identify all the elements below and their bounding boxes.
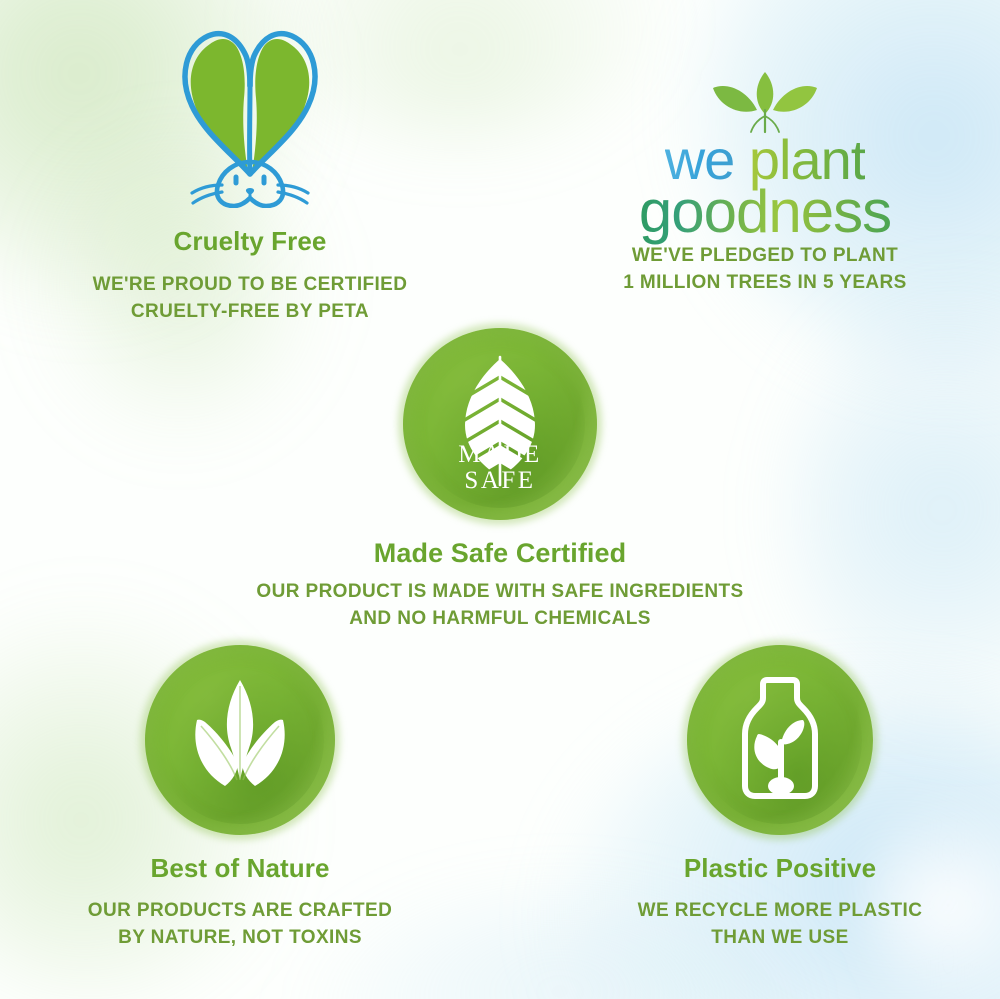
- badge-title: Best of Nature: [20, 853, 460, 884]
- sprout-icon: [705, 70, 825, 134]
- sprout-icon-holder: [639, 70, 891, 132]
- badge-description: OUR PRODUCTS ARE CRAFTED BY NATURE, NOT …: [20, 898, 460, 952]
- badge-cruelty-free: Cruelty Free WE'RE PROUD TO BE CERTIFIED…: [20, 22, 480, 326]
- we-plant-goodness-logo: we plant goodness: [535, 70, 995, 225]
- wordmark-line-2: goodness: [639, 182, 891, 242]
- badge-description-line: THAN WE USE: [570, 925, 990, 952]
- badge-title: Cruelty Free: [20, 226, 480, 257]
- badge-description-line: WE'RE PROUD TO BE CERTIFIED: [20, 272, 480, 299]
- badge-description-line: BY NATURE, NOT TOXINS: [20, 925, 460, 952]
- badge-made-safe: MADE SAFE Made Safe Certified OUR PRODUC…: [180, 328, 820, 633]
- badge-description-line: WE'VE PLEDGED TO PLANT: [535, 243, 995, 270]
- made-safe-label-line-2: SAFE: [464, 468, 535, 494]
- plastic-positive-seal: [687, 645, 873, 835]
- badge-title: Plastic Positive: [570, 853, 990, 884]
- badge-description: WE'VE PLEDGED TO PLANT 1 MILLION TREES I…: [535, 243, 995, 297]
- made-safe-label-line-1: MADE: [458, 442, 542, 468]
- peta-bunny-icon: [160, 22, 340, 208]
- badge-description-line: WE RECYCLE MORE PLASTIC: [570, 898, 990, 925]
- badge-description: WE RECYCLE MORE PLASTIC THAN WE USE: [570, 898, 990, 952]
- made-safe-seal: MADE SAFE: [403, 328, 597, 520]
- badge-description-line: AND NO HARMFUL CHEMICALS: [180, 606, 820, 633]
- we-plant-goodness-wordmark: we plant goodness: [639, 70, 891, 225]
- badge-description-line: OUR PRODUCT IS MADE WITH SAFE INGREDIENT…: [180, 579, 820, 606]
- wordmark-goodness: goodness: [639, 178, 891, 245]
- benefits-infographic: Cruelty Free WE'RE PROUD TO BE CERTIFIED…: [0, 0, 1000, 999]
- bottle-sprout-icon: [721, 674, 839, 806]
- badge-description-line: 1 MILLION TREES IN 5 YEARS: [535, 270, 995, 297]
- three-leaves-icon: [175, 676, 305, 804]
- peta-bunny-logo: [20, 22, 480, 212]
- badge-title: Made Safe Certified: [180, 538, 820, 569]
- badge-we-plant-goodness: we plant goodness WE'VE PLEDGED TO PLANT…: [535, 70, 995, 297]
- best-of-nature-seal: [145, 645, 335, 835]
- badge-plastic-positive: Plastic Positive WE RECYCLE MORE PLASTIC…: [570, 645, 990, 952]
- badge-best-of-nature: Best of Nature OUR PRODUCTS ARE CRAFTED …: [20, 645, 460, 952]
- badge-description: WE'RE PROUD TO BE CERTIFIED CRUELTY-FREE…: [20, 272, 480, 326]
- badge-description: OUR PRODUCT IS MADE WITH SAFE INGREDIENT…: [180, 579, 820, 633]
- badge-description-line: OUR PRODUCTS ARE CRAFTED: [20, 898, 460, 925]
- badge-description-line: CRUELTY-FREE BY PETA: [20, 299, 480, 326]
